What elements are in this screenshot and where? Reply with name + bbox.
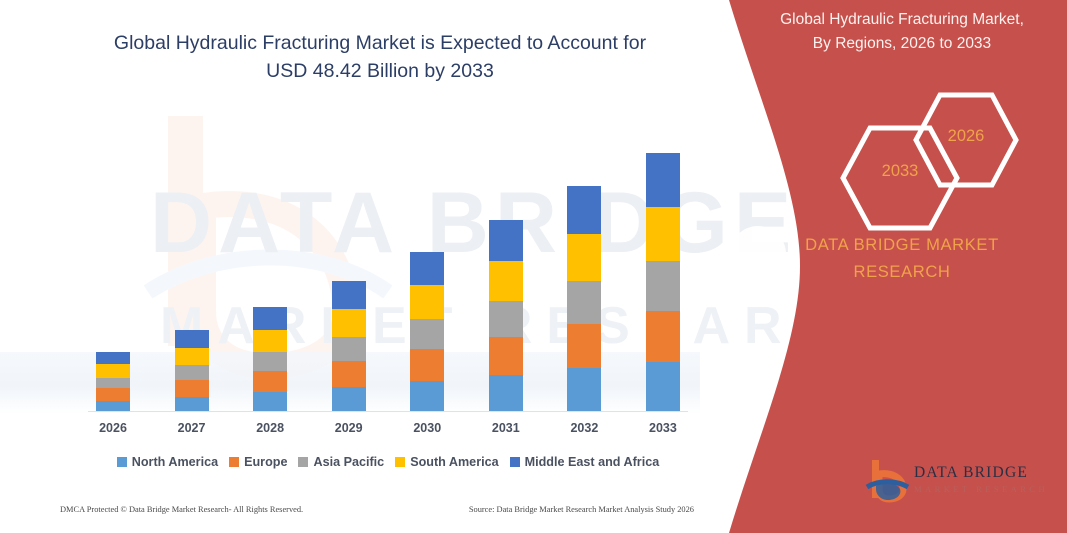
legend-label: North America (132, 455, 218, 469)
chart-x-axis: 20262027202820292030203120322033 (88, 421, 688, 435)
footer-copyright: DMCA Protected © Data Bridge Market Rese… (60, 505, 303, 514)
legend-swatch (229, 457, 239, 467)
bar-segment (253, 371, 287, 392)
right-panel-title-line2: By Regions, 2026 to 2033 (813, 35, 991, 52)
legend-item[interactable]: Middle East and Africa (510, 455, 660, 469)
chart-baseline (88, 411, 688, 412)
legend-swatch (298, 457, 308, 467)
footer-logo-name: DATA BRIDGE (914, 464, 1028, 482)
bar-segment (646, 153, 680, 207)
page-title: Global Hydraulic Fracturing Market is Ex… (60, 30, 700, 85)
bar-segment (567, 281, 601, 324)
legend-label: Asia Pacific (313, 455, 384, 469)
legend-swatch (510, 457, 520, 467)
legend-item[interactable]: Europe (229, 455, 287, 469)
x-axis-tick-label: 2032 (567, 421, 601, 435)
infographic-canvas: DATA BRIDGE MARKET RESEARCH Global Hydra… (0, 0, 1067, 533)
bar-segment (489, 301, 523, 337)
chart-bars-container (88, 120, 688, 411)
bar-segment (489, 337, 523, 375)
bar-column (567, 186, 601, 411)
bar-segment (646, 261, 680, 311)
brand-line1: DATA BRIDGE MARKET (805, 235, 999, 254)
hexagon-group: 2033 2026 (812, 90, 1062, 210)
legend-item[interactable]: South America (395, 455, 498, 469)
x-axis-tick-label: 2029 (332, 421, 366, 435)
bar-segment (175, 380, 209, 397)
bar-column (175, 330, 209, 411)
footer-logo-tagline: MARKET RESEARCH (914, 484, 1048, 494)
bar-segment (253, 352, 287, 372)
bar-segment (96, 364, 130, 377)
bar-segment (253, 330, 287, 352)
bar-segment (96, 378, 130, 388)
chart-legend: North AmericaEuropeAsia PacificSouth Ame… (88, 455, 688, 469)
right-panel-title-line1: Global Hydraulic Fracturing Market, (780, 11, 1024, 28)
legend-item[interactable]: Asia Pacific (298, 455, 384, 469)
legend-label: South America (410, 455, 498, 469)
x-axis-tick-label: 2027 (175, 421, 209, 435)
bar-segment (567, 234, 601, 281)
brand-name: DATA BRIDGE MARKET RESEARCH (742, 232, 1062, 285)
bar-segment (175, 348, 209, 365)
footer-source: Source: Data Bridge Market Research Mark… (469, 505, 700, 514)
x-axis-tick-label: 2026 (96, 421, 130, 435)
bar-segment (175, 365, 209, 380)
bar-segment (410, 285, 444, 319)
bar-segment (646, 207, 680, 261)
hexagon-2026-label: 2026 (912, 127, 1020, 146)
bar-column (646, 153, 680, 411)
bar-segment (410, 381, 444, 411)
bar-column (489, 220, 523, 411)
bridge-logo-icon (862, 456, 912, 506)
bar-segment (332, 309, 366, 337)
bar-segment (175, 397, 209, 411)
bar-segment (410, 319, 444, 349)
x-axis-tick-label: 2031 (489, 421, 523, 435)
bar-segment (489, 375, 523, 411)
legend-swatch (117, 457, 127, 467)
bar-segment (567, 324, 601, 368)
bar-segment (332, 337, 366, 362)
page-title-line1: Global Hydraulic Fracturing Market is Ex… (114, 32, 646, 54)
bar-segment (646, 311, 680, 362)
bar-column (410, 252, 444, 411)
bar-segment (410, 252, 444, 285)
bar-segment (96, 401, 130, 411)
legend-label: Europe (244, 455, 287, 469)
bar-segment (175, 330, 209, 347)
right-panel-title: Global Hydraulic Fracturing Market, By R… (742, 8, 1062, 56)
right-panel-content: Global Hydraulic Fracturing Market, By R… (742, 0, 1067, 533)
bar-segment (253, 392, 287, 411)
bar-segment (332, 387, 366, 411)
footer-logo: DATA BRIDGE MARKET RESEARCH (862, 456, 1062, 512)
bar-segment (410, 349, 444, 381)
x-axis-tick-label: 2033 (646, 421, 680, 435)
x-axis-tick-label: 2028 (253, 421, 287, 435)
page-title-line2: USD 48.42 Billion by 2033 (60, 58, 700, 86)
footer: DMCA Protected © Data Bridge Market Rese… (60, 505, 700, 514)
stacked-bar-chart (88, 120, 688, 412)
bar-column (332, 281, 366, 411)
bar-segment (489, 220, 523, 261)
bar-segment (253, 307, 287, 329)
bar-segment (567, 368, 601, 411)
x-axis-tick-label: 2030 (410, 421, 444, 435)
bar-segment (332, 361, 366, 387)
bar-segment (567, 186, 601, 233)
bar-column (253, 307, 287, 411)
bar-segment (646, 362, 680, 411)
brand-line2: RESEARCH (853, 262, 950, 281)
bar-segment (332, 281, 366, 309)
left-chart-panel: DATA BRIDGE MARKET RESEARCH Global Hydra… (0, 0, 780, 533)
legend-swatch (395, 457, 405, 467)
legend-label: Middle East and Africa (525, 455, 660, 469)
bar-segment (96, 388, 130, 401)
bar-segment (489, 261, 523, 301)
bar-column (96, 352, 130, 411)
bar-segment (96, 352, 130, 364)
legend-item[interactable]: North America (117, 455, 218, 469)
